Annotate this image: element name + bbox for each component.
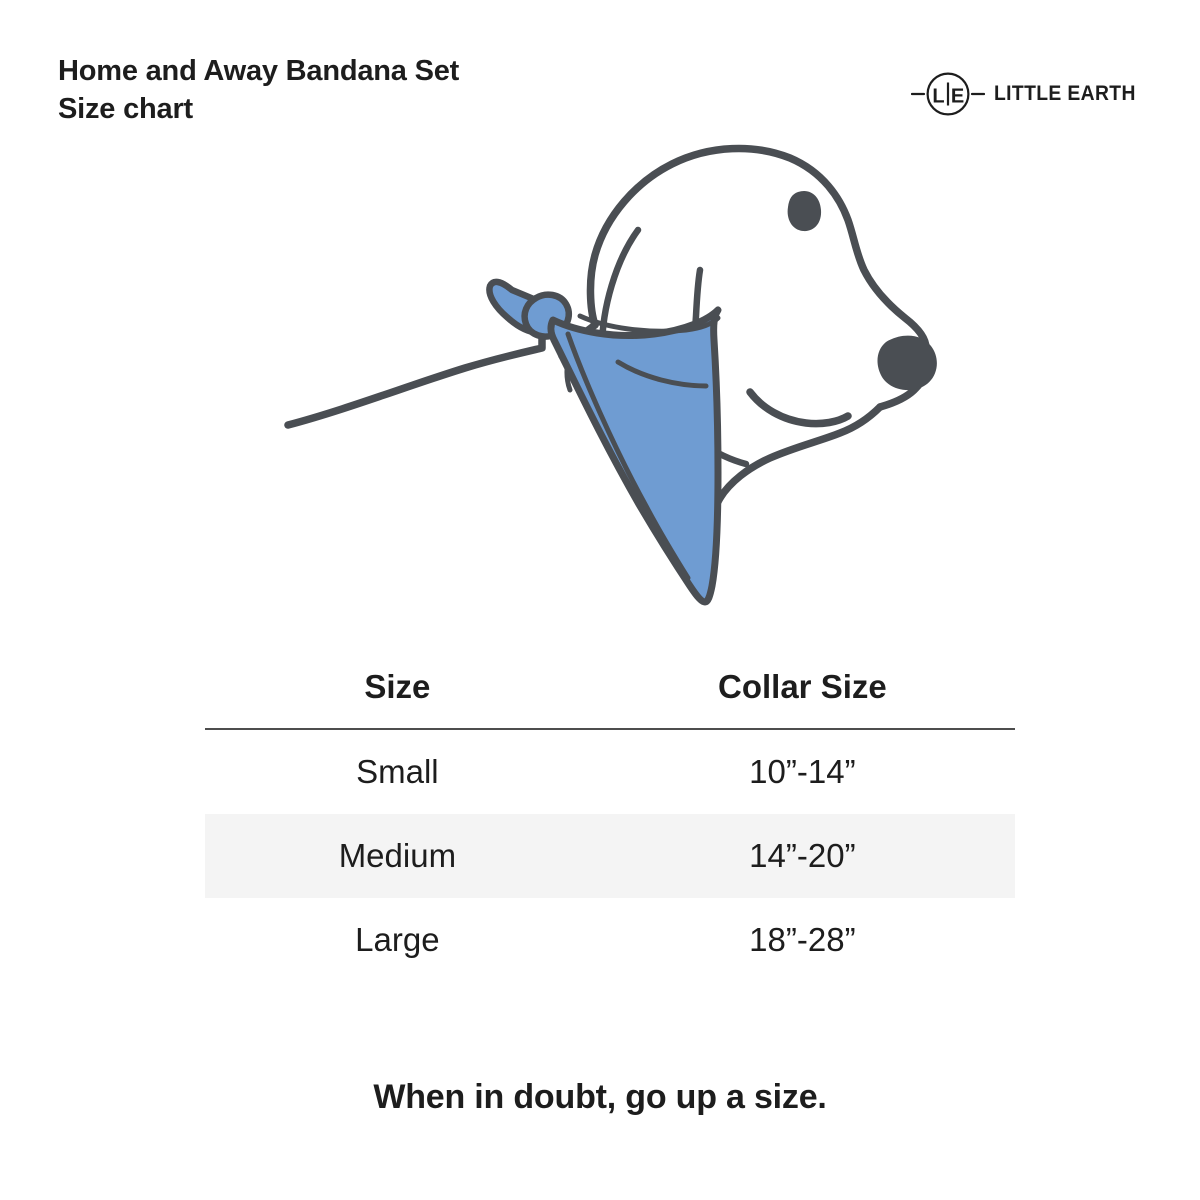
column-header-size: Size xyxy=(205,668,590,706)
table-row: Large 18”-28” xyxy=(205,898,1015,982)
dog-bandana-illustration xyxy=(250,120,950,640)
cell-collar-medium: 14”-20” xyxy=(590,837,1015,875)
dog-back-line xyxy=(288,328,562,425)
table-header-row: Size Collar Size xyxy=(205,662,1015,714)
brand-wordmark: LITTLE EARTH xyxy=(994,82,1136,106)
cell-collar-large: 18”-28” xyxy=(590,921,1015,959)
dog-eye xyxy=(788,191,821,231)
column-header-collar-size: Collar Size xyxy=(590,668,1015,706)
cell-size-small: Small xyxy=(205,753,590,791)
brand-logo: L E LITTLE EARTH xyxy=(911,72,1148,116)
page-title-line-1: Home and Away Bandana Set xyxy=(58,52,459,90)
size-chart-table: Size Collar Size Small 10”-14” Medium 14… xyxy=(205,662,1015,982)
table-row: Small 10”-14” xyxy=(205,730,1015,814)
svg-text:L: L xyxy=(932,86,944,108)
table-row: Medium 14”-20” xyxy=(205,814,1015,898)
dog-head-top-outline xyxy=(590,148,926,348)
cell-size-large: Large xyxy=(205,921,590,959)
dog-mouth-line xyxy=(750,392,848,424)
little-earth-monogram-icon: L E xyxy=(911,72,985,116)
footer-note: When in doubt, go up a size. xyxy=(0,1078,1200,1117)
dog-nose xyxy=(877,336,936,391)
cell-collar-small: 10”-14” xyxy=(590,753,1015,791)
page-title: Home and Away Bandana Set Size chart xyxy=(58,52,459,129)
cell-size-medium: Medium xyxy=(205,837,590,875)
svg-text:E: E xyxy=(951,86,964,108)
